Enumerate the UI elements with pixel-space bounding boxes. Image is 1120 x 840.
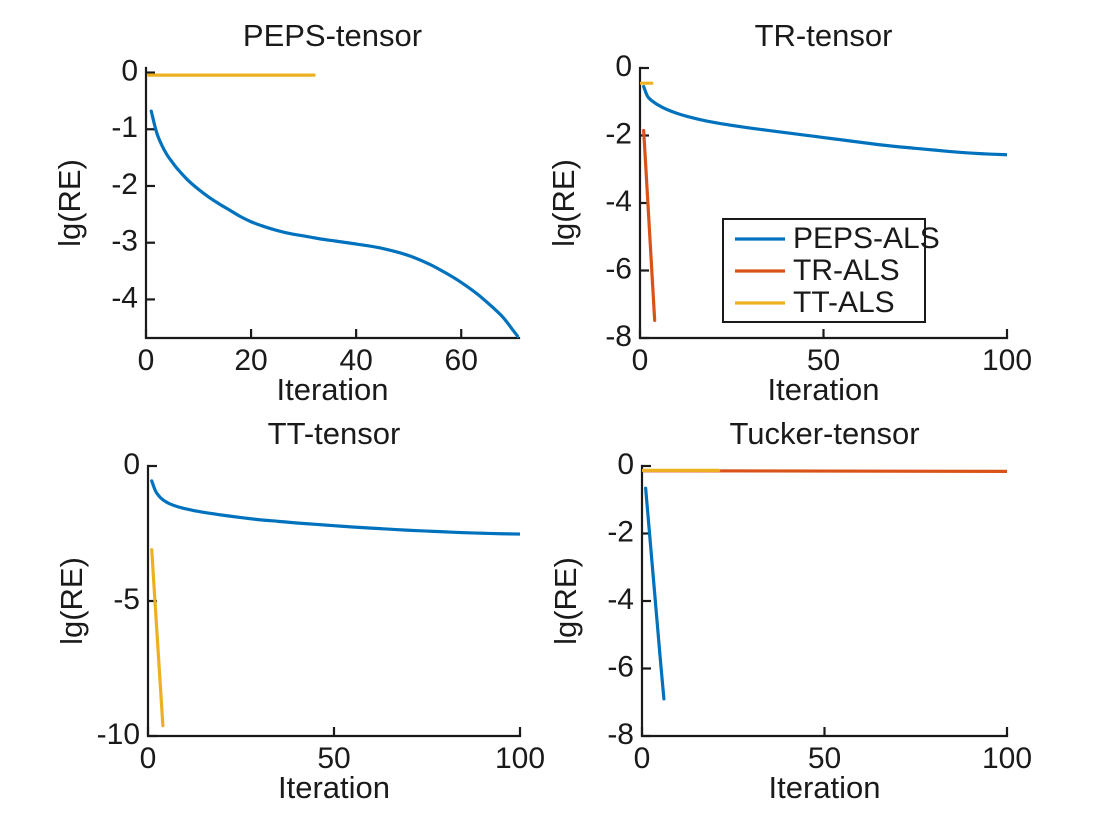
series-group <box>643 470 1007 698</box>
y-tick-label: -2 <box>607 515 634 548</box>
x-axis-title: Iteration <box>276 372 388 407</box>
x-axis-title: Iteration <box>278 770 390 805</box>
y-tick-label: -5 <box>113 583 140 616</box>
y-tick-label: 0 <box>615 50 632 83</box>
chart-tt-tensor: 0-5-10050100TT-tensorIterationlg(RE) <box>0 420 560 840</box>
x-tick-label: 100 <box>495 742 545 775</box>
panel-tr-tensor: 0-2-4-6-8050100TR-tensorIterationlg(RE)P… <box>560 0 1120 420</box>
y-tick-label: 0 <box>121 54 138 87</box>
x-axis-ticks: 050100 <box>634 727 1032 775</box>
series-line-peps-als <box>644 87 1007 155</box>
y-axis-title: lg(RE) <box>546 159 581 247</box>
y-tick-label: -8 <box>605 320 632 353</box>
y-tick-label: -4 <box>605 185 632 218</box>
y-tick-label: 0 <box>617 448 634 481</box>
x-tick-label: 60 <box>445 344 478 377</box>
y-tick-label: -3 <box>111 225 138 258</box>
y-axis-ticks: 0-2-4-6-8 <box>605 50 649 353</box>
x-tick-label: 100 <box>982 344 1032 377</box>
series-line-peps-als <box>152 481 520 534</box>
axes-spines <box>148 466 520 736</box>
panel-title: PEPS-tensor <box>243 18 422 53</box>
legend-label-tr-als: TR-ALS <box>793 254 900 287</box>
x-axis-ticks: 050100 <box>140 727 545 775</box>
panel-title: TT-tensor <box>268 416 401 451</box>
y-tick-label: -6 <box>605 252 632 285</box>
legend-label-tt-als: TT-ALS <box>793 286 895 319</box>
chart-peps-tensor: 0-1-2-3-40204060PEPS-tensorIterationlg(R… <box>0 0 560 420</box>
x-tick-label: 0 <box>632 344 649 377</box>
y-tick-label: -8 <box>607 718 634 751</box>
series-line-peps-als <box>646 488 664 699</box>
y-tick-label: -4 <box>111 281 138 314</box>
y-axis-title: lg(RE) <box>52 159 87 247</box>
panel-tucker-tensor: 0-2-4-6-8050100Tucker-tensorIterationlg(… <box>560 420 1120 840</box>
panel-peps-tensor: 0-1-2-3-40204060PEPS-tensorIterationlg(R… <box>0 0 560 420</box>
y-axis-ticks: 0-2-4-6-8 <box>607 448 651 751</box>
x-tick-label: 0 <box>138 344 155 377</box>
series-group <box>149 75 519 338</box>
x-axis-title: Iteration <box>768 770 880 805</box>
series-line-tr-als <box>644 130 655 320</box>
panel-title: TR-tensor <box>755 18 893 53</box>
series-line-peps-als <box>151 111 519 338</box>
series-line-tt-als <box>152 550 163 726</box>
legend-label-peps-als: PEPS-ALS <box>793 222 940 255</box>
y-tick-label: -4 <box>607 583 634 616</box>
x-axis-ticks: 050100 <box>632 329 1032 377</box>
axes-spines <box>642 466 1007 736</box>
x-axis-ticks: 0204060 <box>138 329 478 377</box>
figure-canvas: 0-1-2-3-40204060PEPS-tensorIterationlg(R… <box>0 0 1120 840</box>
y-tick-label: -2 <box>605 117 632 150</box>
panel-tt-tensor: 0-5-10050100TT-tensorIterationlg(RE) <box>0 420 560 840</box>
series-group <box>152 481 520 726</box>
y-tick-label: -2 <box>111 168 138 201</box>
x-tick-label: 100 <box>982 742 1032 775</box>
chart-tucker-tensor: 0-2-4-6-8050100Tucker-tensorIterationlg(… <box>560 420 1120 840</box>
y-tick-label: -10 <box>97 718 140 751</box>
legend[interactable]: PEPS-ALSTR-ALSTT-ALS <box>723 219 940 322</box>
y-tick-label: 0 <box>123 448 140 481</box>
y-axis-ticks: 0-1-2-3-4 <box>111 54 155 314</box>
x-axis-title: Iteration <box>767 372 879 407</box>
panel-title: Tucker-tensor <box>729 416 919 451</box>
chart-tr-tensor: 0-2-4-6-8050100TR-tensorIterationlg(RE)P… <box>560 0 1120 420</box>
x-tick-label: 20 <box>234 344 267 377</box>
x-tick-label: 0 <box>634 742 651 775</box>
y-axis-title: lg(RE) <box>548 557 583 645</box>
x-tick-label: 0 <box>140 742 157 775</box>
y-axis-title: lg(RE) <box>54 557 89 645</box>
y-tick-label: -6 <box>607 650 634 683</box>
axes-spines <box>146 68 519 338</box>
y-tick-label: -1 <box>111 111 138 144</box>
